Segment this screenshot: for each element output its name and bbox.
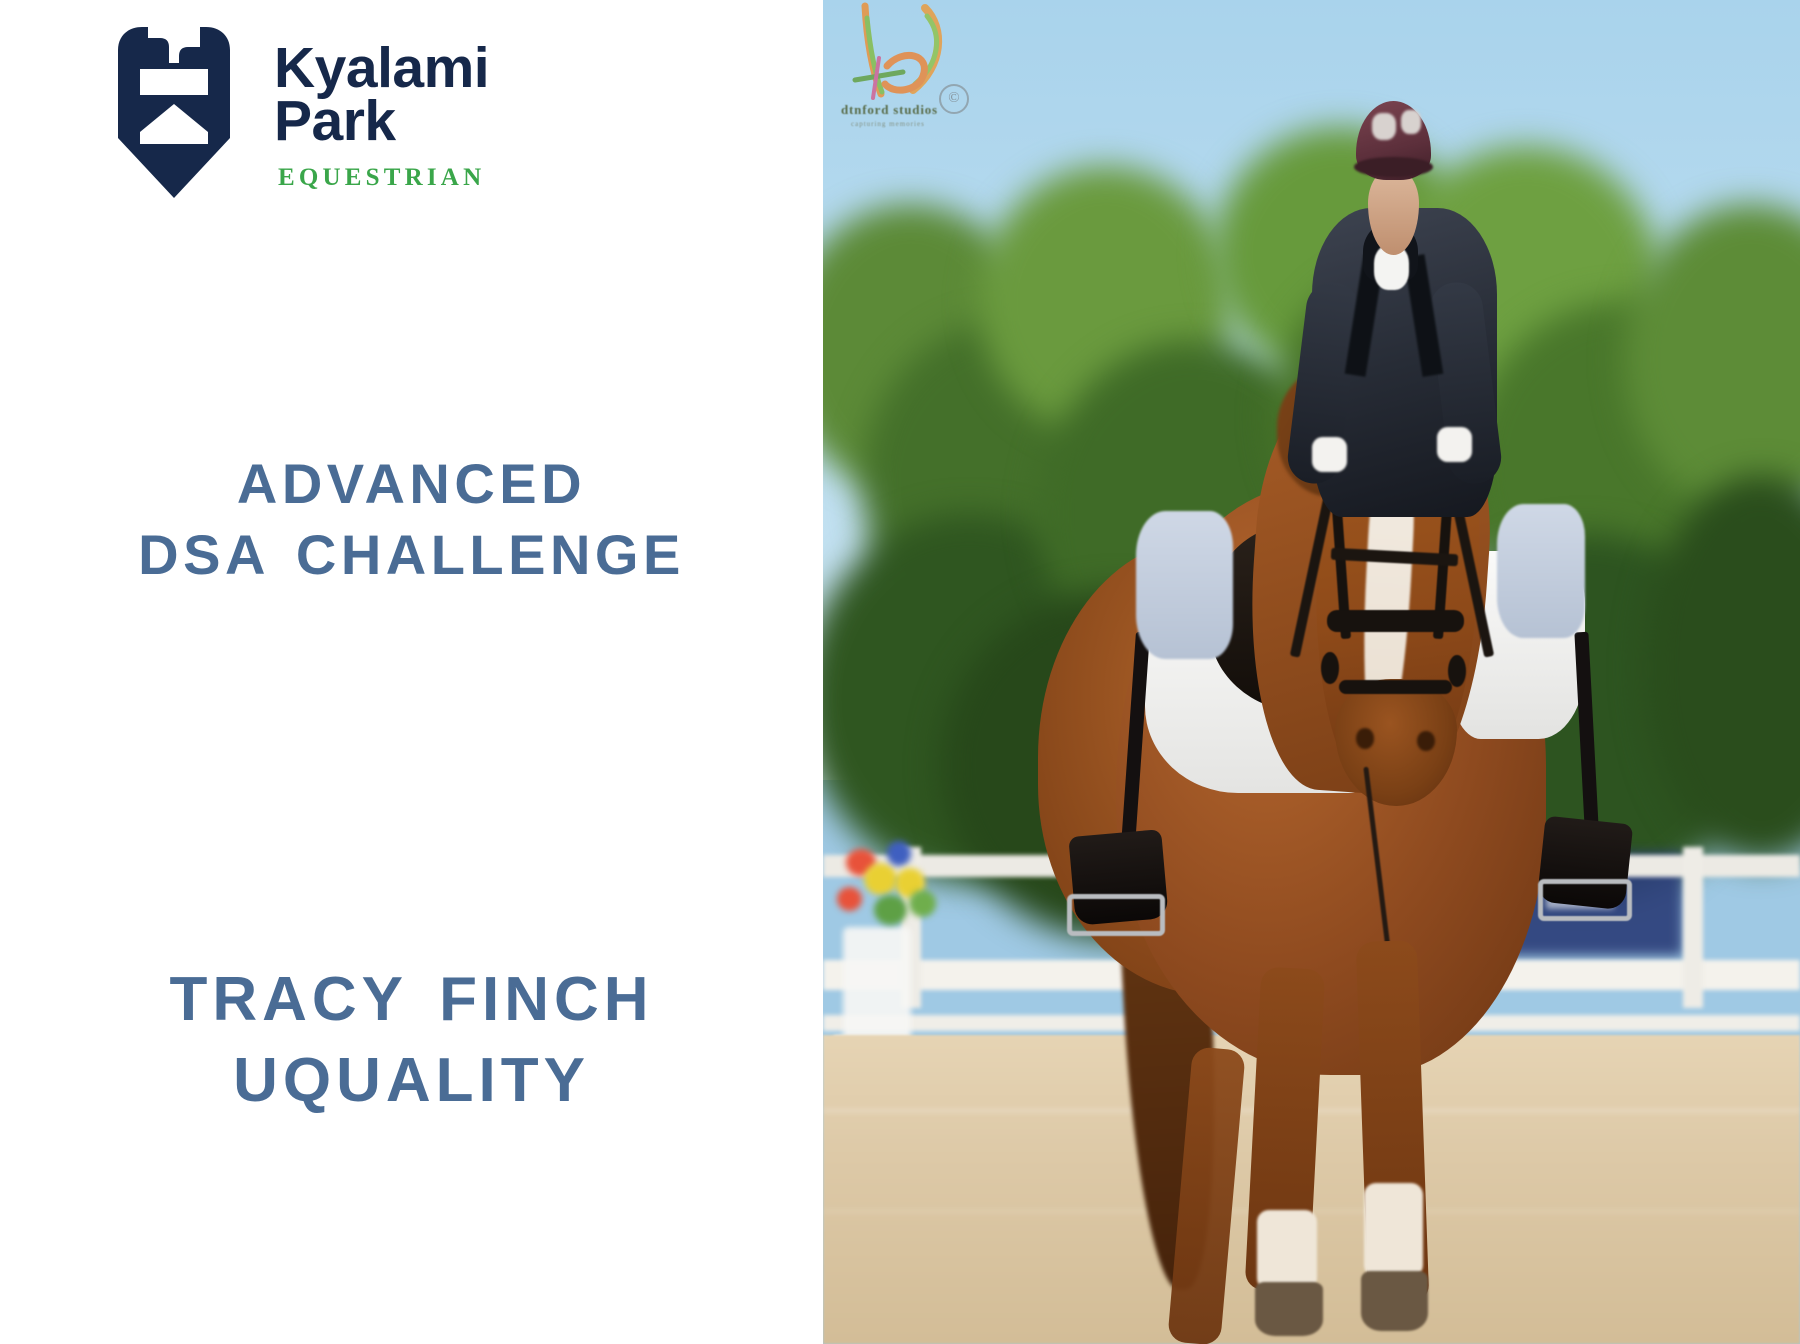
brand-logo[interactable]: Kyalami Park EQUESTRIAN — [112, 22, 489, 202]
watermark-tagline: capturing memories — [851, 120, 925, 128]
rider-breeches-right — [1497, 504, 1585, 638]
info-panel: Kyalami Park EQUESTRIAN ADVANCED DSA CHA… — [0, 0, 823, 1344]
bridle-noseband — [1327, 610, 1464, 632]
rider-glove-right — [1437, 427, 1472, 462]
copyright-icon: © — [939, 84, 969, 114]
class-title: ADVANCED DSA CHALLENGE — [0, 448, 823, 590]
horse-name: UQUALITY — [0, 1041, 823, 1122]
rider-breeches-left — [1136, 511, 1234, 659]
competition-photo: V — [823, 0, 1800, 1344]
brand-name-line2: Park — [274, 89, 396, 153]
photographer-watermark: © dtnford studios capturing memories — [827, 2, 987, 142]
bridle-flash — [1339, 680, 1452, 693]
brand-tagline: EQUESTRIAN — [278, 164, 489, 192]
result-card: Kyalami Park EQUESTRIAN ADVANCED DSA CHA… — [0, 0, 1800, 1344]
horse-sock-off — [1364, 1183, 1423, 1277]
horse-hoof-off — [1361, 1271, 1427, 1330]
brand-wordmark: Kyalami Park EQUESTRIAN — [274, 22, 489, 192]
watermark-studio-name: dtnford studios — [841, 102, 938, 118]
stirrup-iron-left — [1067, 894, 1165, 936]
stirrup-iron-right — [1538, 879, 1632, 921]
horse-hoof-near — [1255, 1282, 1323, 1336]
entry-details: TRACY FINCH UQUALITY — [0, 960, 823, 1121]
horse-sock-near — [1257, 1210, 1318, 1291]
rider-glove-left — [1312, 437, 1347, 472]
class-title-line2: DSA CHALLENGE — [0, 519, 823, 590]
bit-ring-right — [1448, 655, 1466, 687]
rider-name: TRACY FINCH — [0, 960, 823, 1041]
bit-ring-left — [1321, 652, 1339, 684]
shield-horseheads-icon — [112, 22, 236, 202]
class-title-line1: ADVANCED — [0, 448, 823, 519]
